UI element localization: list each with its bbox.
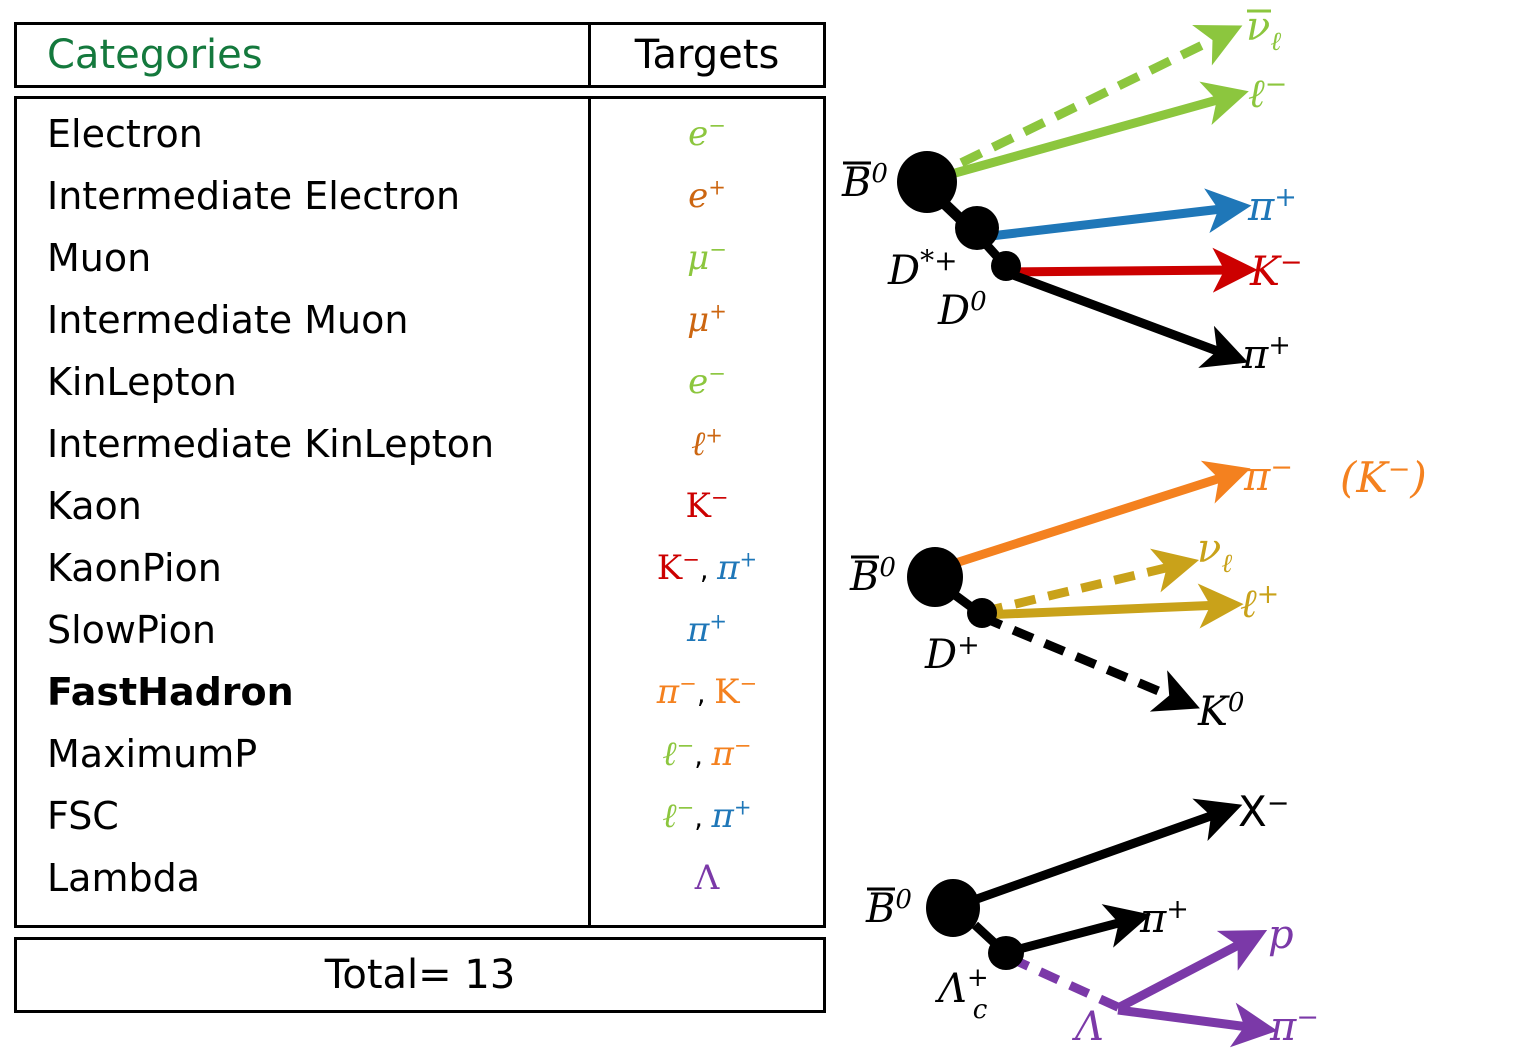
header-cell-categories: Categories — [17, 25, 591, 85]
product-label-proton: p — [1268, 912, 1294, 958]
product-label-neutrino: νℓ — [1197, 526, 1232, 579]
node-b0bar-2 — [907, 547, 963, 607]
node-label-b0bar-2: B0 — [849, 553, 896, 600]
arrow-pi-minus-purple — [1118, 1010, 1256, 1028]
category-column: ElectronIntermediate ElectronMuonInterme… — [17, 99, 591, 925]
header-label-categories: Categories — [17, 35, 588, 75]
category-cell: Muon — [17, 227, 588, 289]
arrow-pi-plus-3 — [1008, 920, 1130, 952]
target-cell: ℓ+ — [591, 413, 823, 475]
target-column: e−e+μ−μ+e−ℓ+K−K−, π+π+π−, K−ℓ−, π−ℓ−, π+… — [591, 99, 823, 925]
target-cell: ℓ−, π+ — [591, 785, 823, 847]
target-cell: K− — [591, 475, 823, 537]
header-cell-targets: Targets — [591, 25, 823, 85]
arrow-pi-plus-blue — [982, 208, 1230, 237]
node-d0 — [991, 251, 1021, 281]
arrow-k0 — [982, 617, 1180, 700]
category-cell: Intermediate Muon — [17, 289, 588, 351]
target-cell: μ− — [591, 227, 823, 289]
target-cell: μ+ — [591, 289, 823, 351]
product-label-pi-plus-1: π+ — [1247, 182, 1297, 230]
target-cell: e− — [591, 351, 823, 413]
category-cell: Intermediate Electron — [17, 165, 588, 227]
arrow-pi-minus-orange — [940, 475, 1230, 568]
category-cell: KinLepton — [17, 351, 588, 413]
target-cell: ℓ−, π− — [591, 723, 823, 785]
arrow-x-minus — [960, 812, 1222, 905]
header-label-targets: Targets — [591, 35, 823, 75]
product-label-x-minus: X− — [1238, 787, 1289, 836]
target-cell: π−, K− — [591, 661, 823, 723]
table-body: ElectronIntermediate ElectronMuonInterme… — [14, 96, 826, 928]
decay-diagrams-svg: B0 D*+ D0 νℓ ℓ− π+ K− π+ — [830, 0, 1526, 1050]
product-label-pi-plus-2: π+ — [1241, 330, 1291, 378]
total-label: Total= 13 — [325, 952, 516, 998]
diagram-2-group: B0 D+ π− (K−) νℓ ℓ+ K0 — [849, 452, 1427, 735]
node-label-lambda: Λ — [1071, 1004, 1104, 1050]
table-header-row: Categories Targets — [14, 22, 826, 88]
node-b0bar-3 — [926, 879, 980, 937]
node-label-b0bar-3: B0 — [865, 885, 912, 932]
category-cell: Electron — [17, 103, 588, 165]
arrow-pi-plus-black — [1005, 272, 1228, 355]
arrow-lepton-minus — [930, 97, 1228, 180]
node-dstar-plus — [955, 206, 999, 250]
figure-root: Categories Targets ElectronIntermediate … — [0, 0, 1526, 1050]
diagram-3-group: B0 Λ+c Λ X− π+ p π− — [865, 787, 1319, 1050]
product-label-pi-minus-2: π− — [1269, 1002, 1319, 1050]
product-label-lepton-minus: ℓ− — [1248, 69, 1287, 117]
node-label-d-plus: D+ — [924, 630, 980, 678]
category-cell: FastHadron — [17, 661, 588, 723]
target-cell: K−, π+ — [591, 537, 823, 599]
node-label-b0bar-1: B0 — [841, 159, 888, 206]
product-label-k0: K0 — [1197, 688, 1244, 735]
target-cell: Λ — [591, 847, 823, 909]
product-label-k-minus-1: K− — [1249, 247, 1303, 295]
product-label-pi-minus-1: π− — [1243, 452, 1293, 500]
category-cell: FSC — [17, 785, 588, 847]
category-cell: SlowPion — [17, 599, 588, 661]
node-lambda-c-plus — [988, 936, 1024, 970]
arrow-k-minus — [1005, 270, 1236, 272]
arrow-lambda — [1010, 958, 1120, 1008]
target-cell: π+ — [591, 599, 823, 661]
arrow-proton — [1118, 940, 1248, 1008]
target-cell: e+ — [591, 165, 823, 227]
target-cell: e− — [591, 103, 823, 165]
annotation-k-minus-alt: (K−) — [1340, 453, 1427, 502]
table-total-row: Total= 13 — [14, 937, 826, 1013]
category-cell: Intermediate KinLepton — [17, 413, 588, 475]
node-label-dstar: D*+ — [887, 244, 958, 294]
product-label-pi-plus-3: π+ — [1139, 894, 1189, 942]
product-label-lepton-plus: ℓ+ — [1240, 579, 1279, 627]
decay-diagrams: B0 D*+ D0 νℓ ℓ− π+ K− π+ — [830, 0, 1526, 1050]
category-cell: Kaon — [17, 475, 588, 537]
category-cell: MaximumP — [17, 723, 588, 785]
node-d-plus — [967, 598, 997, 628]
categories-table: Categories Targets ElectronIntermediate … — [14, 22, 826, 1030]
category-cell: Lambda — [17, 847, 588, 909]
node-b0bar-1 — [897, 151, 957, 213]
node-label-d0: D0 — [937, 287, 987, 334]
diagram-1-group: B0 D*+ D0 νℓ ℓ− π+ K− π+ — [841, 4, 1303, 378]
category-cell: KaonPion — [17, 537, 588, 599]
node-label-lambda-c: Λ+c — [934, 963, 989, 1025]
